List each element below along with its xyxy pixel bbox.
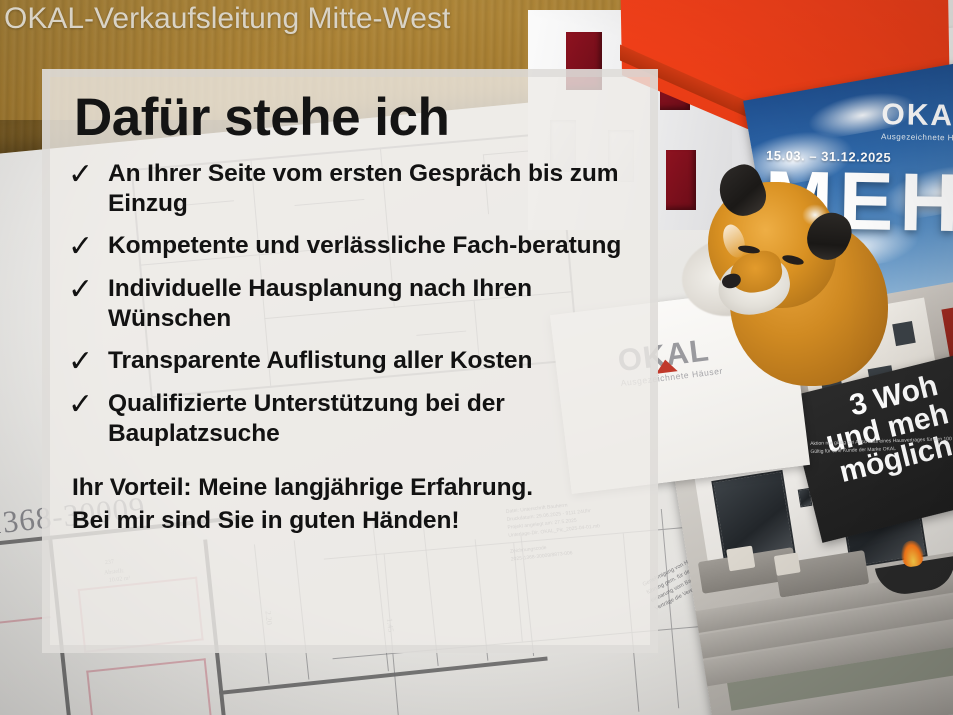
closing-line-2: Bei mir sind Sie in guten Händen! [72, 504, 632, 537]
overlay-card: Dafür stehe ich ✓ An Ihrer Seite vom ers… [42, 69, 658, 653]
closing-statement: Ihr Vorteil: Meine langjährige Erfahrung… [72, 471, 632, 537]
checkmark-icon: ✓ [60, 160, 108, 190]
list-item-label: Kompetente und verlässliche Fach-beratun… [108, 231, 621, 261]
list-item-label: An Ihrer Seite vom ersten Gespräch bis z… [108, 159, 632, 219]
list-item: ✓ Transparente Auflistung aller Kosten [60, 346, 632, 377]
list-item-label: Qualifizierte Unterstützung bei der Baup… [108, 389, 632, 449]
closing-line-1: Ihr Vorteil: Meine langjährige Erfahrung… [72, 471, 632, 504]
slide-root: 2.20 1.45 299 14 m² 237 Abstellr. 10.02 … [0, 0, 953, 715]
card-title: Dafür stehe ich [74, 87, 632, 149]
fox-eye-right [781, 253, 804, 266]
list-item: ✓ An Ihrer Seite vom ersten Gespräch bis… [60, 159, 632, 219]
list-item: ✓ Qualifizierte Unterstützung bei der Ba… [60, 389, 632, 449]
checkmark-icon: ✓ [60, 275, 108, 305]
list-item: ✓ Kompetente und verlässliche Fach-berat… [60, 231, 632, 262]
list-item-label: Individuelle Hausplanung nach Ihren Wüns… [108, 274, 632, 334]
page-title: OKAL-Verkaufsleitung Mitte-West [4, 2, 450, 36]
plush-fox-figurine [690, 160, 900, 390]
benefits-list: ✓ An Ihrer Seite vom ersten Gespräch bis… [60, 159, 632, 449]
checkmark-icon: ✓ [60, 347, 108, 377]
list-item: ✓ Individuelle Hausplanung nach Ihren Wü… [60, 274, 632, 334]
checkmark-icon: ✓ [60, 232, 108, 262]
list-item-label: Transparente Auflistung aller Kosten [108, 346, 532, 376]
checkmark-icon: ✓ [60, 390, 108, 420]
brochure-blue-logo: OKAL Ausgezeichnete Häuser [881, 98, 953, 143]
